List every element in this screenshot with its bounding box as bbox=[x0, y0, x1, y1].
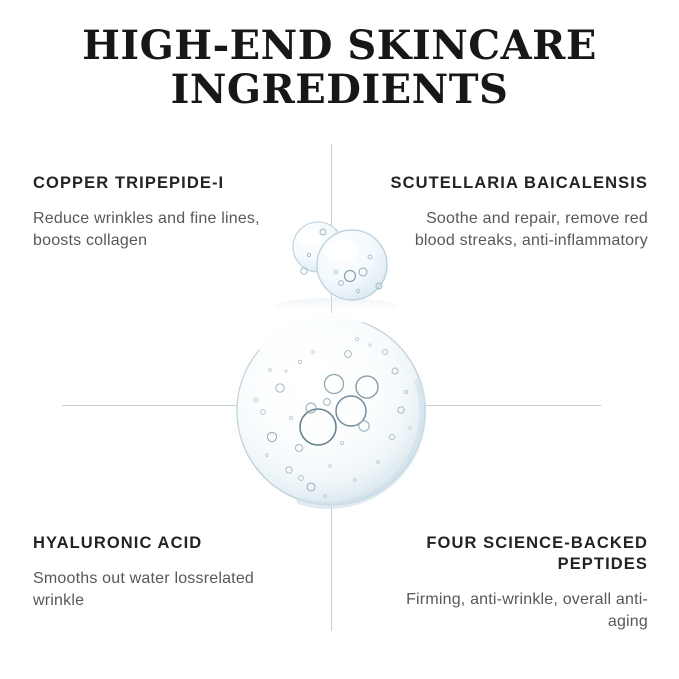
ingredient-heading: SCUTELLARIA BAICALENSIS bbox=[386, 173, 648, 194]
small-droplet-left bbox=[293, 222, 343, 272]
vertical-divider bbox=[331, 144, 332, 631]
ingredient-block-hyaluronic-acid: HYALURONIC ACID Smooths out water lossre… bbox=[33, 533, 293, 612]
page-title: HIGH-END SKINCARE INGREDIENTS bbox=[0, 24, 679, 112]
ingredient-heading: HYALURONIC ACID bbox=[33, 533, 293, 554]
ingredient-heading: FOUR SCIENCE-BACKED PEPTIDES bbox=[386, 533, 648, 575]
ingredient-body: Reduce wrinkles and fine lines, boosts c… bbox=[33, 208, 293, 252]
infographic-page: HIGH-END SKINCARE INGREDIENTS bbox=[0, 0, 679, 679]
ingredient-body: Soothe and repair, remove red blood stre… bbox=[386, 208, 648, 252]
ingredient-block-four-peptides: FOUR SCIENCE-BACKED PEPTIDES Firming, an… bbox=[386, 533, 648, 633]
ingredient-body: Firming, anti-wrinkle, overall anti-agin… bbox=[386, 589, 648, 633]
ingredient-block-scutellaria-baicalensis: SCUTELLARIA BAICALENSIS Soothe and repai… bbox=[386, 173, 648, 252]
title-line-1: HIGH-END SKINCARE bbox=[82, 22, 597, 69]
small-droplet-right bbox=[301, 229, 387, 300]
title-line-2: INGREDIENTS bbox=[0, 68, 679, 112]
ingredient-body: Smooths out water lossrelated wrinkle bbox=[33, 568, 293, 612]
ingredient-block-copper-tripepide: COPPER TRIPEPIDE-I Reduce wrinkles and f… bbox=[33, 173, 293, 252]
ingredient-heading: COPPER TRIPEPIDE-I bbox=[33, 173, 293, 194]
